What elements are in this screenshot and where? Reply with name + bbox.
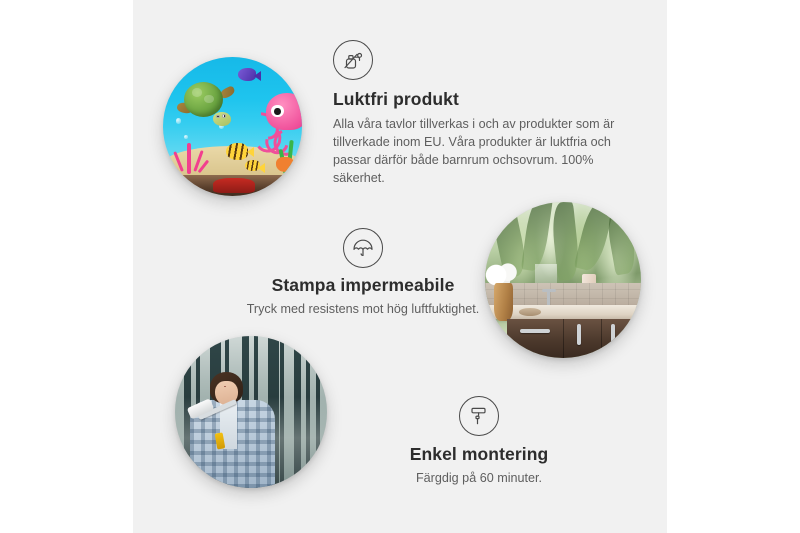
turtle-eye xyxy=(216,115,220,119)
feature-odour-free: Luktfri produkt Alla våra tavlor tillver… xyxy=(333,40,633,188)
soap-dish xyxy=(519,308,541,316)
turtle-head xyxy=(213,112,231,126)
woman-painter xyxy=(184,372,278,488)
feature-easy-mounting: Enkel montering Färgdig på 60 minuter. xyxy=(329,396,629,488)
feature-title: Enkel montering xyxy=(329,444,629,465)
product-image-underwater-cartoon xyxy=(163,57,302,196)
feature-description: Tryck med resistens mot hög luftfuktighe… xyxy=(209,301,517,319)
cabinet-handle xyxy=(611,324,615,344)
octopus-illustration xyxy=(252,93,302,154)
feature-infographic-page: Luktfri produkt Alla våra tavlor tillver… xyxy=(0,0,800,533)
feature-waterproof: Stampa impermeabile Tryck med resistens … xyxy=(209,228,517,319)
cabinet-handle xyxy=(577,324,581,344)
turtle-illustration xyxy=(180,82,233,129)
bubble-icon xyxy=(184,135,188,139)
feature-description: Färgdig på 60 minuter. xyxy=(329,470,629,488)
starfish-illustration xyxy=(276,157,294,172)
painter-forest-scene xyxy=(175,336,327,488)
octopus-eye xyxy=(271,105,283,117)
fish-illustration xyxy=(245,160,260,171)
fish-illustration xyxy=(226,143,248,160)
product-image-painter-forest xyxy=(175,336,327,488)
paint-roller-icon xyxy=(459,396,499,436)
coral-illustration xyxy=(171,140,207,173)
no-fragrance-icon xyxy=(333,40,373,80)
ocean-rock xyxy=(213,178,255,193)
content-panel: Luktfri produkt Alla våra tavlor tillver… xyxy=(133,0,667,533)
feature-title: Stampa impermeabile xyxy=(209,275,517,296)
drawer-handle xyxy=(520,329,550,333)
feature-description: Alla våra tavlor tillverkas i och av pro… xyxy=(333,116,623,188)
fish-illustration xyxy=(238,68,256,81)
bathroom-vanity-cabinet xyxy=(507,319,641,358)
turtle-eye xyxy=(222,114,226,118)
umbrella-icon xyxy=(343,228,383,268)
feature-title: Luktfri produkt xyxy=(333,89,633,110)
octopus-head xyxy=(266,93,302,130)
underwater-scene xyxy=(163,57,302,196)
